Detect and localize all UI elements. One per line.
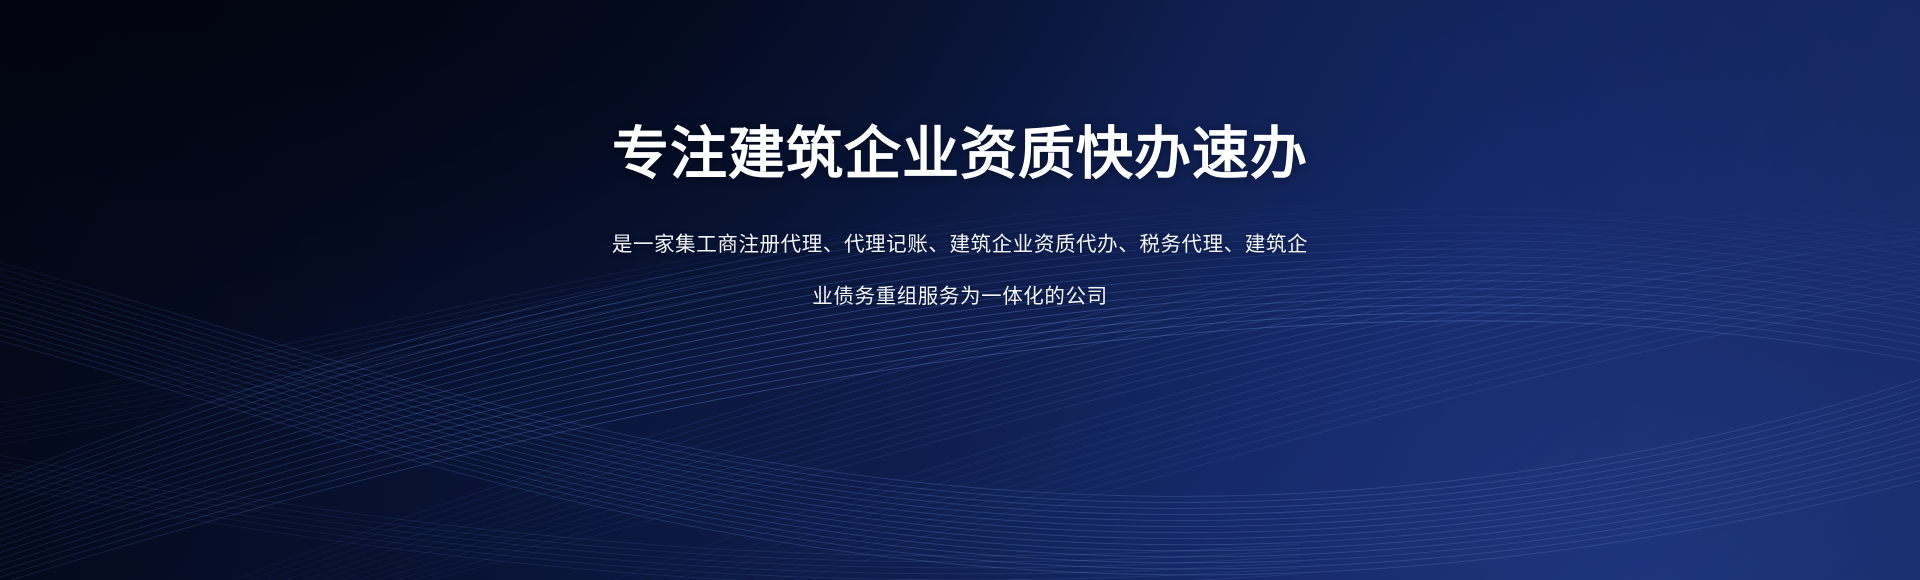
banner-subtitle-line-2: 业债务重组服务为一体化的公司	[600, 271, 1320, 323]
banner-headline: 专注建筑企业资质快办速办	[612, 126, 1308, 183]
hero-banner: 专注建筑企业资质快办速办 是一家集工商注册代理、代理记账、建筑企业资质代办、税务…	[0, 0, 1920, 580]
banner-subtitle: 是一家集工商注册代理、代理记账、建筑企业资质代办、税务代理、建筑企 业债务重组服…	[600, 219, 1320, 323]
banner-subtitle-line-1: 是一家集工商注册代理、代理记账、建筑企业资质代办、税务代理、建筑企	[600, 219, 1320, 271]
banner-content: 专注建筑企业资质快办速办 是一家集工商注册代理、代理记账、建筑企业资质代办、税务…	[0, 0, 1920, 580]
